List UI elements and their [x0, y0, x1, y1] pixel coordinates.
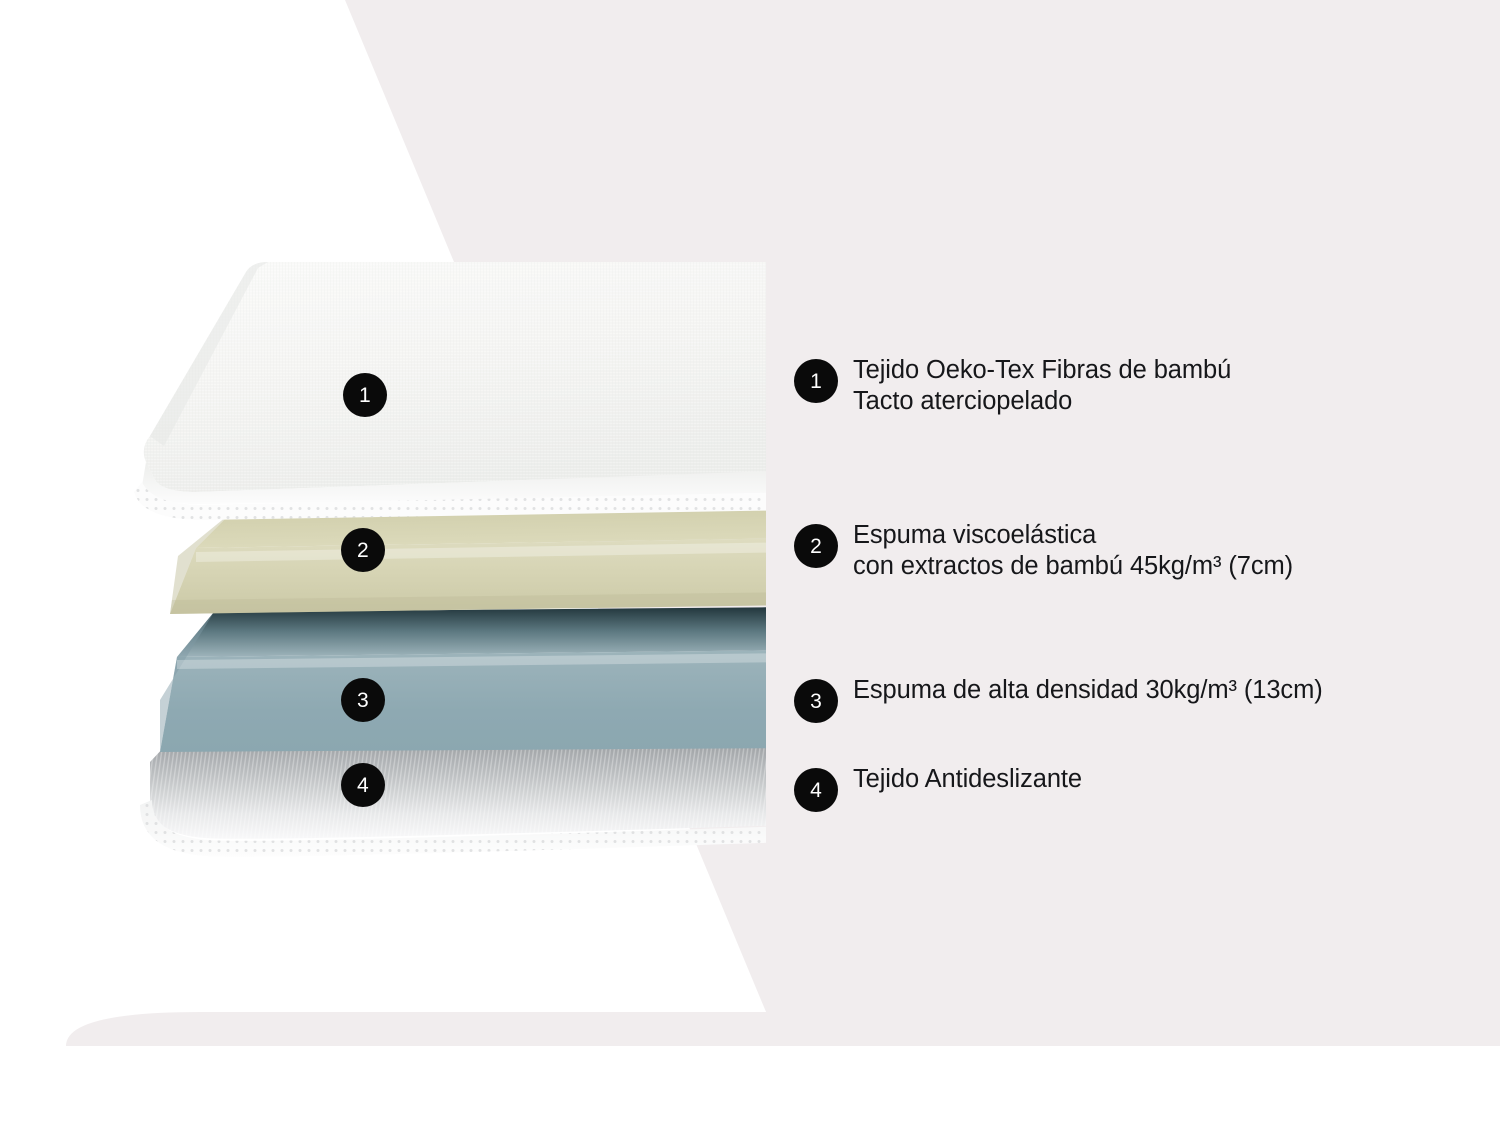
legend-label-1: Tejido Oeko-Tex Fibras de bambú Tacto at…: [853, 355, 1231, 417]
legend-badge-1: 1: [794, 359, 838, 403]
legend-badge-2: 2: [794, 524, 838, 568]
layer-2-memory-foam: [170, 506, 766, 614]
legend-label-2: Espuma viscoelástica con extractos de ba…: [853, 520, 1293, 582]
mattress-illustration: [0, 0, 766, 1125]
product-badge-1[interactable]: 1: [343, 373, 387, 417]
layer-3-high-density-foam: [160, 607, 766, 752]
legend-item-2[interactable]: 2 Espuma viscoelástica con extractos de …: [794, 520, 1293, 582]
legend-badge-4: 4: [794, 768, 838, 812]
legend-item-1[interactable]: 1 Tejido Oeko-Tex Fibras de bambú Tacto …: [794, 355, 1231, 417]
mattress-layers-svg: [0, 0, 766, 1125]
layer-4-antislip-base: [140, 740, 766, 857]
product-badge-4[interactable]: 4: [341, 763, 385, 807]
infographic-canvas: 1 2 3 4 1 Tejido Oeko-Tex Fibras de bamb…: [0, 0, 1500, 1125]
layer-1-bamboo-cover: [134, 262, 766, 520]
product-badge-2[interactable]: 2: [341, 528, 385, 572]
legend-label-3: Espuma de alta densidad 30kg/m³ (13cm): [853, 675, 1323, 706]
legend-label-4: Tejido Antideslizante: [853, 764, 1082, 795]
legend-badge-3: 3: [794, 679, 838, 723]
legend-item-3[interactable]: 3 Espuma de alta densidad 30kg/m³ (13cm): [794, 675, 1323, 706]
legend-item-4[interactable]: 4 Tejido Antideslizante: [794, 764, 1082, 795]
product-badge-3[interactable]: 3: [341, 678, 385, 722]
